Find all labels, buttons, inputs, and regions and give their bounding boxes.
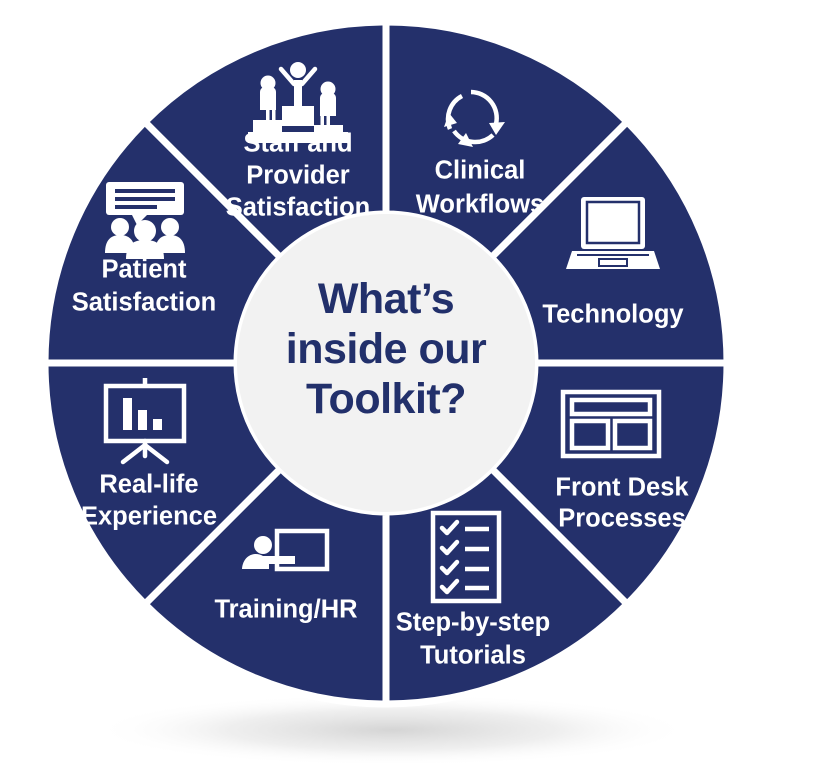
svg-text:Front Desk: Front Desk <box>555 474 689 502</box>
label-staff-and-provider-satisfaction: Staff and Provider Satisfaction <box>226 130 371 222</box>
svg-text:Real-life: Real-life <box>99 471 198 499</box>
svg-text:Step-by-step: Step-by-step <box>396 609 550 637</box>
people-speech-bubble-icon <box>105 182 185 259</box>
center-title-line-3: Toolkit? <box>306 375 466 423</box>
center-title-line-1: What’s <box>318 275 454 323</box>
svg-text:Tutorials: Tutorials <box>420 642 526 670</box>
svg-text:Workflows: Workflows <box>416 191 544 219</box>
svg-text:Processes: Processes <box>558 505 686 533</box>
label-training-hr: Training/HR <box>214 596 357 624</box>
svg-text:Clinical: Clinical <box>435 157 526 185</box>
toolkit-wheel-figure: What’s inside our Toolkit? <box>0 0 825 771</box>
center-title-line-2: inside our <box>286 325 487 373</box>
svg-text:Patient: Patient <box>101 256 187 284</box>
svg-text:Training/HR: Training/HR <box>214 596 357 624</box>
svg-text:Satisfaction: Satisfaction <box>226 194 371 222</box>
label-technology: Technology <box>542 301 684 329</box>
wheel-svg: What’s inside our Toolkit? <box>0 0 825 771</box>
svg-text:Technology: Technology <box>542 301 684 329</box>
svg-text:Provider: Provider <box>246 162 350 190</box>
svg-text:Staff and: Staff and <box>243 130 352 158</box>
svg-text:Experience: Experience <box>81 503 217 531</box>
svg-text:Satisfaction: Satisfaction <box>72 289 217 317</box>
